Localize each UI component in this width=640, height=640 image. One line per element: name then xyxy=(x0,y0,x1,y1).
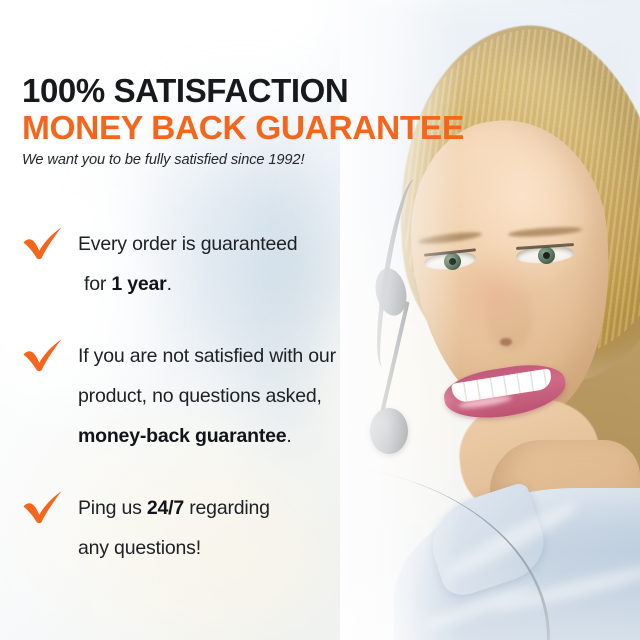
bullet-3-line-1-strong: 24/7 xyxy=(147,497,184,519)
bullet-1-line-2-post: . xyxy=(167,273,172,295)
list-item: Ping us 24/7 regarding any questions! xyxy=(22,488,442,568)
list-item-text: Every order is guaranteed for 1 year. xyxy=(78,224,297,304)
nostril xyxy=(500,338,512,346)
list-item: Every order is guaranteed for 1 year. xyxy=(22,224,442,304)
bullet-2-line-3-strong: money-back guarantee xyxy=(78,425,286,447)
orange-checkmark-icon xyxy=(22,488,78,524)
list-item: If you are not satisfied with our produc… xyxy=(22,336,442,456)
bullet-3-line-1-post: regarding xyxy=(184,497,270,519)
headline-line-2: MONEY BACK GUARANTEE xyxy=(22,112,464,146)
orange-checkmark-icon xyxy=(22,336,78,372)
headline-line-1: 100% SATISFACTION xyxy=(22,74,464,108)
bullet-1-line-1: Every order is guaranteed xyxy=(78,233,297,255)
pupil-right xyxy=(543,252,550,259)
bullet-2-line-3-post: . xyxy=(286,425,291,447)
subheadline: We want you to be fully satisfied since … xyxy=(22,152,304,168)
list-item-text: Ping us 24/7 regarding any questions! xyxy=(78,488,270,568)
bullet-1-line-2-pre: for xyxy=(84,273,111,295)
orange-checkmark-icon xyxy=(22,224,78,260)
bullet-3-line-1-pre: Ping us xyxy=(78,497,147,519)
bullet-3-line-2: any questions! xyxy=(78,537,201,559)
guarantee-bullet-list: Every order is guaranteed for 1 year. If… xyxy=(22,224,442,568)
content-column: 100% SATISFACTION MONEY BACK GUARANTEE W… xyxy=(0,0,470,640)
list-item-text: If you are not satisfied with our produc… xyxy=(78,336,336,456)
bullet-2-line-2: product, no questions asked, xyxy=(78,385,322,407)
headline-block: 100% SATISFACTION MONEY BACK GUARANTEE xyxy=(22,74,464,146)
bullet-2-line-1: If you are not satisfied with our xyxy=(78,345,336,367)
money-back-guarantee-banner: 100% SATISFACTION MONEY BACK GUARANTEE W… xyxy=(0,0,640,640)
bullet-1-line-2-strong: 1 year xyxy=(111,273,166,295)
